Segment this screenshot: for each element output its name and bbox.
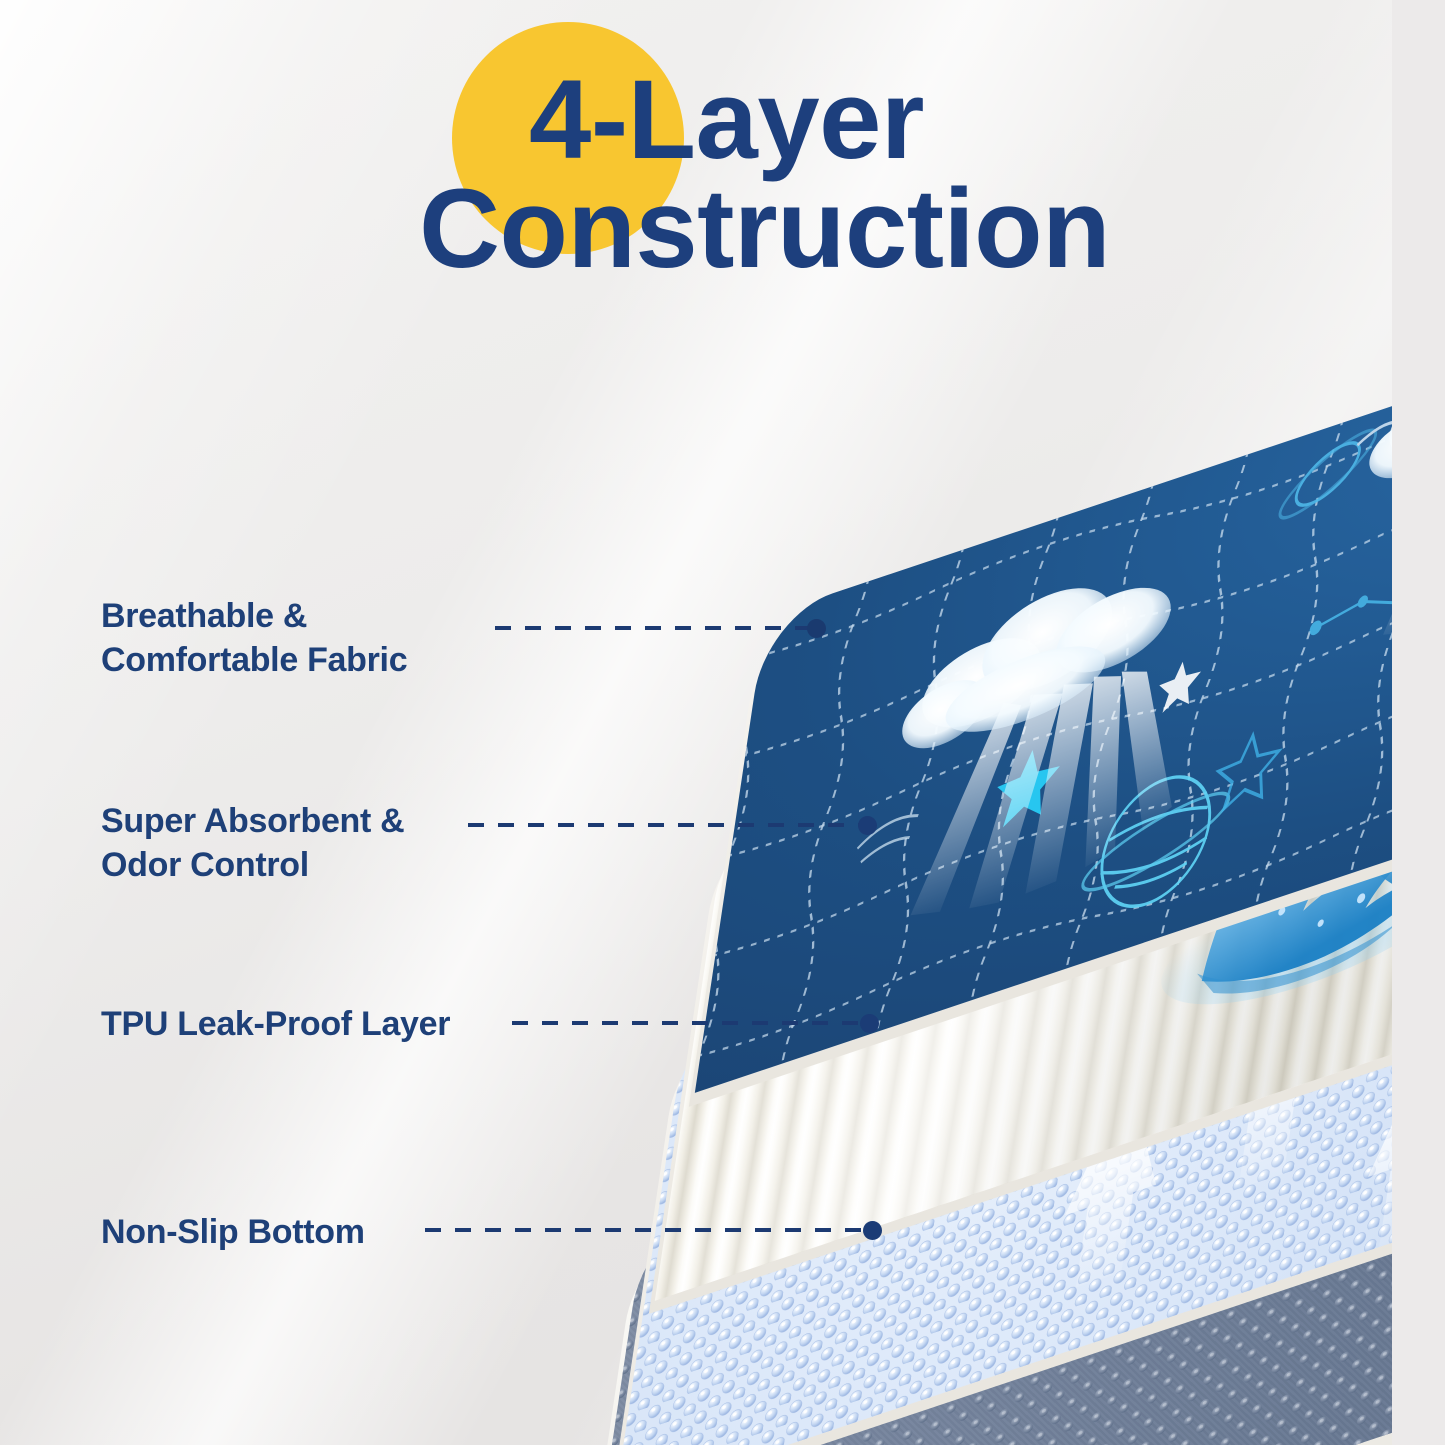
label-tpu-leak-proof: TPU Leak-Proof Layer: [101, 1003, 450, 1047]
label-non-slip-bottom: Non-Slip Bottom: [101, 1211, 365, 1255]
title-line-2: Construction: [0, 175, 1110, 284]
dashed-line: [512, 1021, 870, 1025]
leader-line-super-absorbent: [468, 823, 868, 827]
leader-line-tpu: [512, 1021, 870, 1025]
leader-end-dot: [860, 1014, 879, 1033]
label-breathable-fabric: Breathable & Comfortable Fabric: [101, 595, 407, 682]
leader-end-dot: [807, 619, 826, 638]
cloud-icon: [870, 540, 1212, 945]
label-super-absorbent: Super Absorbent & Odor Control: [101, 800, 404, 887]
title-line-1: 4-Layer: [0, 66, 1110, 175]
page-title: 4-Layer Construction: [0, 66, 1110, 283]
leader-end-dot: [863, 1221, 882, 1240]
leader-line-non-slip: [425, 1228, 873, 1232]
dashed-line: [468, 823, 868, 827]
leader-line-breathable-fabric: [495, 626, 817, 630]
infographic-canvas: 4-Layer Construction: [0, 0, 1445, 1445]
right-edge-mask: [1392, 0, 1445, 1445]
leader-end-dot: [858, 816, 877, 835]
dashed-line: [495, 626, 817, 630]
dashed-line: [425, 1228, 873, 1232]
